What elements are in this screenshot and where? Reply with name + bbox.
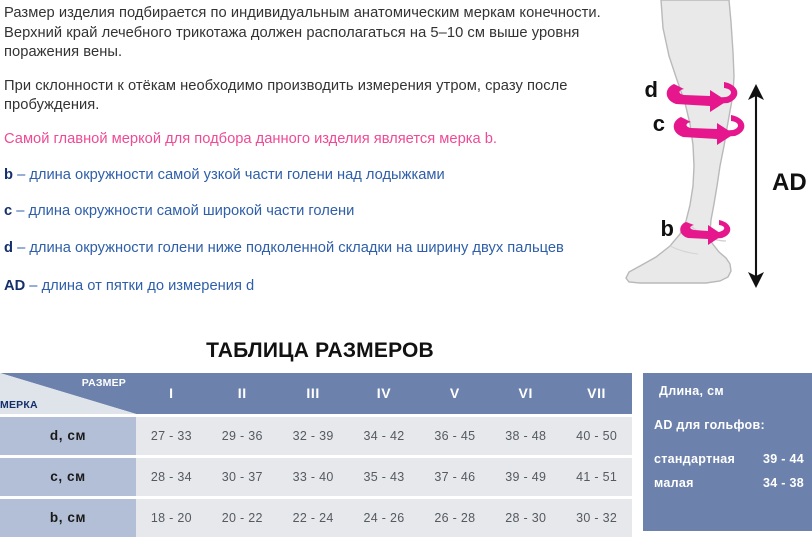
table-column-header-5: V bbox=[419, 373, 490, 414]
diagram-label-ad: AD bbox=[772, 169, 807, 196]
measurement-def-b: b – длина окружности самой узкой части г… bbox=[4, 166, 604, 186]
measurement-def-d: d – длина окружности голени ниже подколе… bbox=[4, 239, 604, 259]
table-cell: 33 - 40 bbox=[278, 458, 349, 496]
measurement-text-ad: длина от пятки до измерения d bbox=[42, 278, 255, 294]
row-label-b: b, см bbox=[0, 499, 136, 537]
table-cell: 20 - 22 bbox=[207, 499, 278, 537]
length-row-standard-name: стандартная bbox=[654, 452, 735, 466]
table-row: c, см 28 - 34 30 - 37 33 - 40 35 - 43 37… bbox=[0, 458, 632, 496]
measurement-dash-d: – bbox=[13, 240, 29, 256]
leg-diagram-svg: d c b AD bbox=[600, 0, 812, 340]
corner-label-size: РАЗМЕР bbox=[82, 377, 126, 389]
measurement-dash-b: – bbox=[13, 167, 29, 183]
measurement-text-b: длина окружности самой узкой части голен… bbox=[29, 167, 444, 183]
measurement-dash-ad: – bbox=[25, 278, 41, 294]
size-table: РАЗМЕР МЕРКА I II III IV V VI VII d, см … bbox=[0, 373, 632, 537]
measurement-text-c: длина окружности самой широкой части гол… bbox=[29, 203, 355, 219]
table-column-header-6: VI bbox=[490, 373, 561, 414]
table-cell: 28 - 34 bbox=[136, 458, 207, 496]
intro-highlight: Самой главной меркой для подбора данного… bbox=[4, 130, 604, 150]
intro-paragraph-2: При склонности к отёкам необходимо произ… bbox=[4, 77, 604, 116]
table-cell: 28 - 30 bbox=[490, 499, 561, 537]
table-cell: 22 - 24 bbox=[278, 499, 349, 537]
table-cell: 41 - 51 bbox=[561, 458, 632, 496]
length-row-small-name: малая bbox=[654, 476, 694, 490]
intro-paragraph-1: Размер изделия подбирается по индивидуал… bbox=[4, 4, 604, 63]
table-cell: 30 - 37 bbox=[207, 458, 278, 496]
length-panel-subtitle: AD для гольфов: bbox=[654, 418, 765, 432]
measurement-key-ad: AD bbox=[4, 278, 25, 294]
table-cell: 36 - 45 bbox=[419, 417, 490, 455]
table-column-header-4: IV bbox=[349, 373, 420, 414]
table-cell: 35 - 43 bbox=[349, 458, 420, 496]
leg-measurement-diagram: d c b AD bbox=[600, 0, 812, 340]
diagram-label-b: b bbox=[661, 216, 674, 241]
table-corner-cell: РАЗМЕР МЕРКА bbox=[0, 373, 136, 414]
table-row: d, см 27 - 33 29 - 36 32 - 39 34 - 42 36… bbox=[0, 417, 632, 455]
row-values-d: 27 - 33 29 - 36 32 - 39 34 - 42 36 - 45 … bbox=[136, 417, 632, 455]
table-cell: 39 - 49 bbox=[490, 458, 561, 496]
table-cell: 40 - 50 bbox=[561, 417, 632, 455]
corner-label-measure: МЕРКА bbox=[0, 399, 38, 411]
page-title: ТАБЛИЦА РАЗМЕРОВ bbox=[0, 339, 640, 363]
row-values-c: 28 - 34 30 - 37 33 - 40 35 - 43 37 - 46 … bbox=[136, 458, 632, 496]
table-header-row: РАЗМЕР МЕРКА I II III IV V VI VII bbox=[0, 373, 632, 414]
table-cell: 29 - 36 bbox=[207, 417, 278, 455]
diagram-label-c: c bbox=[653, 111, 665, 136]
row-label-d: d, см bbox=[0, 417, 136, 455]
measurement-def-ad: AD – длина от пятки до измерения d bbox=[4, 277, 604, 297]
row-values-b: 18 - 20 20 - 22 22 - 24 24 - 26 26 - 28 … bbox=[136, 499, 632, 537]
table-column-header-1: I bbox=[136, 373, 207, 414]
table-column-header-3: III bbox=[278, 373, 349, 414]
table-cell: 26 - 28 bbox=[419, 499, 490, 537]
length-panel-title: Длина, см bbox=[659, 384, 724, 398]
table-cell: 18 - 20 bbox=[136, 499, 207, 537]
length-row-standard-range: 39 - 44 bbox=[763, 452, 804, 466]
length-panel: Длина, см AD для гольфов: стандартная 39… bbox=[643, 373, 812, 531]
table-cell: 27 - 33 bbox=[136, 417, 207, 455]
diagram-label-d: d bbox=[645, 77, 658, 102]
measurement-key-d: d bbox=[4, 240, 13, 256]
table-cell: 30 - 32 bbox=[561, 499, 632, 537]
table-column-header-7: VII bbox=[561, 373, 632, 414]
intro-text-block: Размер изделия подбирается по индивидуал… bbox=[4, 4, 604, 314]
table-column-header-2: II bbox=[207, 373, 278, 414]
length-row-small-range: 34 - 38 bbox=[763, 476, 804, 490]
measure-arrow-ad-icon bbox=[748, 84, 764, 288]
table-row: b, см 18 - 20 20 - 22 22 - 24 24 - 26 26… bbox=[0, 499, 632, 537]
row-label-c: c, см bbox=[0, 458, 136, 496]
measurement-dash-c: – bbox=[12, 203, 28, 219]
table-cell: 37 - 46 bbox=[419, 458, 490, 496]
measurement-key-c: c bbox=[4, 203, 12, 219]
table-cell: 32 - 39 bbox=[278, 417, 349, 455]
measurement-key-b: b bbox=[4, 167, 13, 183]
table-cell: 34 - 42 bbox=[349, 417, 420, 455]
table-cell: 24 - 26 bbox=[349, 499, 420, 537]
measurement-def-c: c – длина окружности самой широкой части… bbox=[4, 202, 604, 222]
measurement-text-d: длина окружности голени ниже подколенной… bbox=[29, 240, 564, 256]
table-cell: 38 - 48 bbox=[490, 417, 561, 455]
